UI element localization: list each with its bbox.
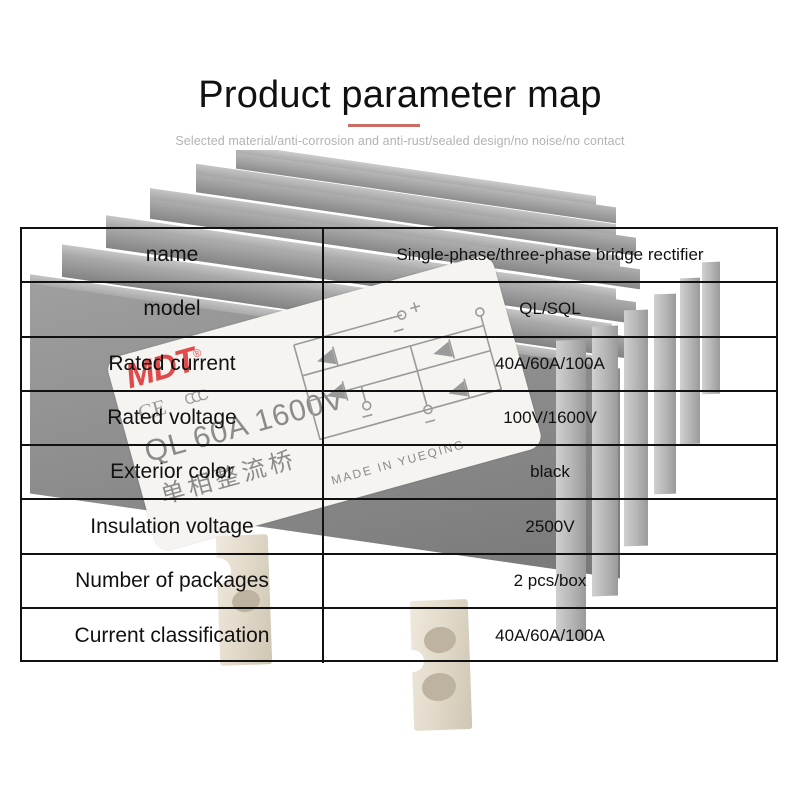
page-header: Product parameter map [0, 72, 800, 118]
row-label: name [22, 229, 324, 281]
parameter-table: name Single-phase/three-phase bridge rec… [20, 227, 778, 662]
row-label: Rated current [22, 338, 324, 390]
title-accent-underline [348, 124, 420, 127]
table-row: model QL/SQL [22, 283, 776, 337]
row-value: black [324, 446, 776, 498]
table-row: Rated voltage 100V/1600V [22, 392, 776, 446]
page-subtitle: Selected material/anti-corrosion and ant… [0, 134, 800, 148]
table-row: Exterior color black [22, 446, 776, 500]
row-label: Exterior color [22, 446, 324, 498]
row-label: model [22, 283, 324, 335]
row-value: Single-phase/three-phase bridge rectifie… [324, 229, 776, 281]
row-label: Insulation voltage [22, 500, 324, 552]
row-value: 2 pcs/box [324, 555, 776, 607]
row-value: 2500V [324, 500, 776, 552]
row-value: 100V/1600V [324, 392, 776, 444]
page-title: Product parameter map [198, 72, 601, 118]
table-row: Current classification 40A/60A/100A [22, 609, 776, 663]
row-value: 40A/60A/100A [324, 338, 776, 390]
table-row: name Single-phase/three-phase bridge rec… [22, 229, 776, 283]
table-row: Number of packages 2 pcs/box [22, 555, 776, 609]
row-value: QL/SQL [324, 283, 776, 335]
table-row: Rated current 40A/60A/100A [22, 338, 776, 392]
row-value: 40A/60A/100A [324, 609, 776, 663]
table-row: Insulation voltage 2500V [22, 500, 776, 554]
row-label: Current classification [22, 609, 324, 663]
row-label: Rated voltage [22, 392, 324, 444]
row-label: Number of packages [22, 555, 324, 607]
product-parameter-page: Product parameter map Selected material/… [0, 0, 800, 800]
